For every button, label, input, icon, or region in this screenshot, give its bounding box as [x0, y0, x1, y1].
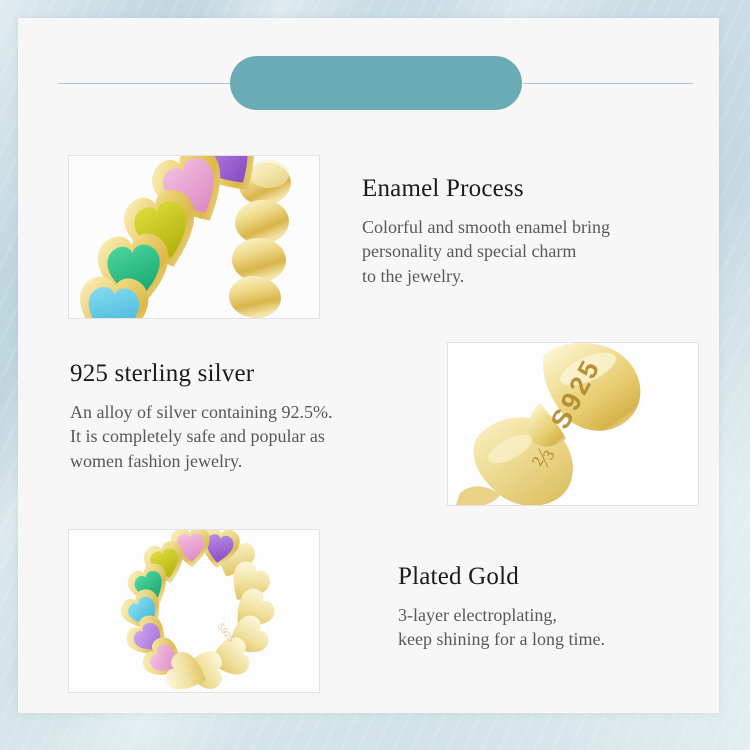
- full-ring-illustration: S925: [69, 530, 320, 693]
- infographic-card: Enamel Process Colorful and smooth ename…: [18, 18, 719, 713]
- section-plated-gold-body: 3-layer electroplating, keep shining for…: [398, 603, 708, 653]
- body-line: Colorful and smooth enamel bring: [362, 215, 702, 240]
- body-line: An alloy of silver containing 92.5%.: [70, 400, 430, 425]
- photo-enamel-closeup-stage: [69, 156, 319, 318]
- section-plated-gold: Plated Gold 3-layer electroplating, keep…: [398, 563, 708, 652]
- section-sterling-silver-body: An alloy of silver containing 92.5%. It …: [70, 400, 430, 474]
- header-band: [18, 56, 719, 112]
- body-line: personality and special charm: [362, 239, 702, 264]
- photo-full-ring: S925: [68, 529, 320, 693]
- section-enamel-process-heading: Enamel Process: [362, 175, 702, 203]
- body-line: It is completely safe and popular as: [70, 424, 430, 449]
- ring-macro-illustration: [69, 156, 320, 319]
- photo-full-ring-stage: S925: [69, 530, 319, 692]
- section-enamel-process-body: Colorful and smooth enamel bring persona…: [362, 215, 702, 289]
- engraving-illustration: S925 ⅔: [448, 343, 699, 506]
- header-rule-left: [58, 83, 233, 84]
- section-sterling-silver-heading: 925 sterling silver: [70, 360, 430, 388]
- header-rule-right: [523, 83, 693, 84]
- photo-engraving-closeup: S925 ⅔: [447, 342, 699, 506]
- body-line: women fashion jewelry.: [70, 449, 430, 474]
- body-line: keep shining for a long time.: [398, 627, 708, 652]
- body-line: 3-layer electroplating,: [398, 603, 708, 628]
- photo-engraving-closeup-stage: S925 ⅔: [448, 343, 698, 505]
- section-enamel-process: Enamel Process Colorful and smooth ename…: [362, 175, 702, 289]
- section-sterling-silver: 925 sterling silver An alloy of silver c…: [70, 360, 430, 474]
- photo-enamel-closeup: [68, 155, 320, 319]
- section-plated-gold-heading: Plated Gold: [398, 563, 708, 591]
- body-line: to the jewelry.: [362, 264, 702, 289]
- header-title-pill: [230, 56, 522, 110]
